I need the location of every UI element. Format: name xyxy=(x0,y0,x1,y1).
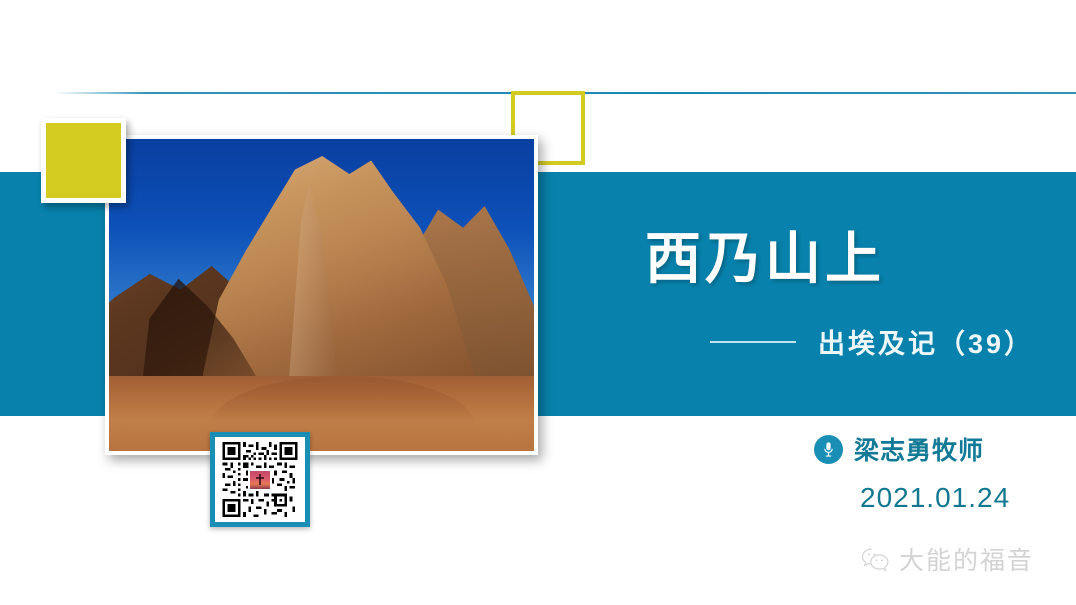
speaker-name: 梁志勇牧师 xyxy=(854,431,984,467)
qr-center-logo xyxy=(248,469,272,491)
qr-code-field xyxy=(215,437,305,522)
slide-title: 西乃山上 xyxy=(645,214,885,295)
slide-date: 2021.01.24 xyxy=(860,482,1010,514)
qr-code[interactable] xyxy=(210,432,310,527)
speaker-row: 梁志勇牧师 xyxy=(814,431,984,467)
wechat-watermark: 大能的福音 xyxy=(860,541,1034,577)
watermark-text: 大能的福音 xyxy=(899,541,1034,577)
microphone-icon xyxy=(814,435,843,464)
photo-content xyxy=(109,139,534,451)
subtitle-dash-icon xyxy=(710,341,796,343)
yellow-solid-square-decoration xyxy=(41,118,126,203)
slide-subtitle: 出埃及记（39） xyxy=(818,322,1034,361)
mount-sinai-photo xyxy=(105,135,538,455)
presentation-slide: 西乃山上 出埃及记（39） 梁志勇牧师 2021.01.24 xyxy=(0,0,1076,605)
wechat-logo-icon xyxy=(860,546,892,572)
slide-subtitle-row: 出埃及记（39） xyxy=(710,322,1034,361)
